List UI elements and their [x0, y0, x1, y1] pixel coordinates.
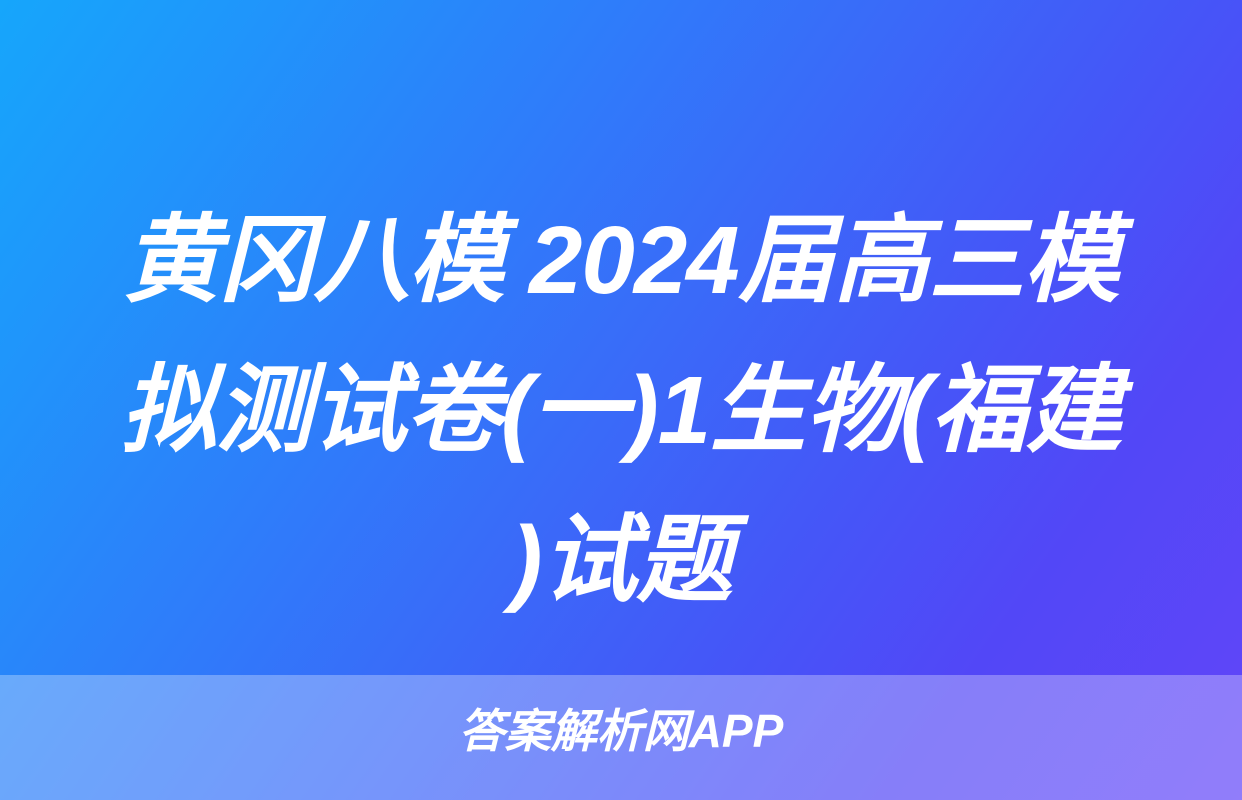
exam-title-card: 黄冈八模 2024届高三模 拟测试卷(一)1生物(福建 )试题 答案解析网APP — [0, 0, 1242, 800]
watermark-band: 答案解析网APP — [0, 675, 1242, 800]
title-line-3: )试题 — [36, 486, 1206, 636]
page-title: 黄冈八模 2024届高三模 拟测试卷(一)1生物(福建 )试题 — [0, 186, 1242, 636]
title-line-2: 拟测试卷(一)1生物(福建 — [36, 336, 1206, 486]
watermark-label: 答案解析网APP — [0, 705, 1242, 757]
title-line-1: 黄冈八模 2024届高三模 — [36, 186, 1206, 336]
